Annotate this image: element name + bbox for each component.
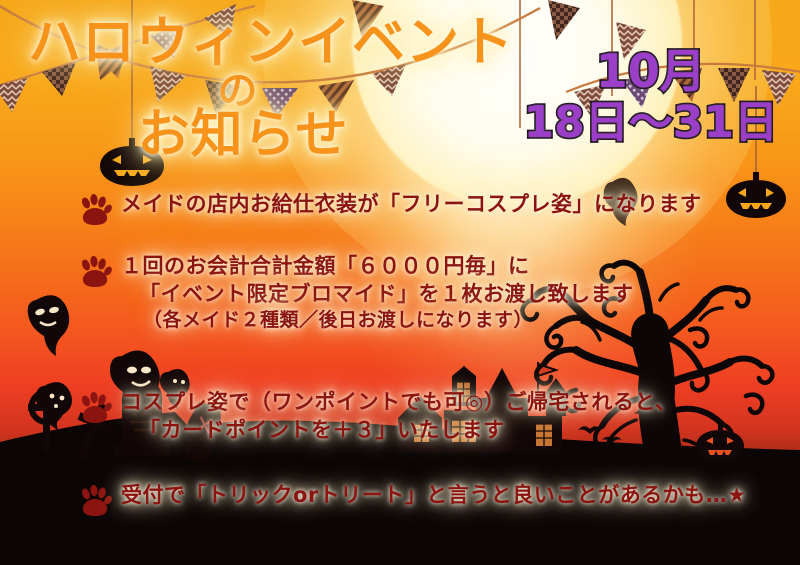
ghost-left-upper <box>28 295 70 356</box>
bunting-rope-a <box>0 0 540 82</box>
haunted-castle-silhouette <box>398 362 566 452</box>
ghost-right-small <box>160 369 190 409</box>
triangle-bunting-flags <box>0 0 800 210</box>
bunting-flags-c <box>574 68 796 118</box>
halloween-event-poster: ハロウィンイベント の お知らせ 10月 18日～31日 メイドの店内お給仕衣装… <box>0 0 800 565</box>
